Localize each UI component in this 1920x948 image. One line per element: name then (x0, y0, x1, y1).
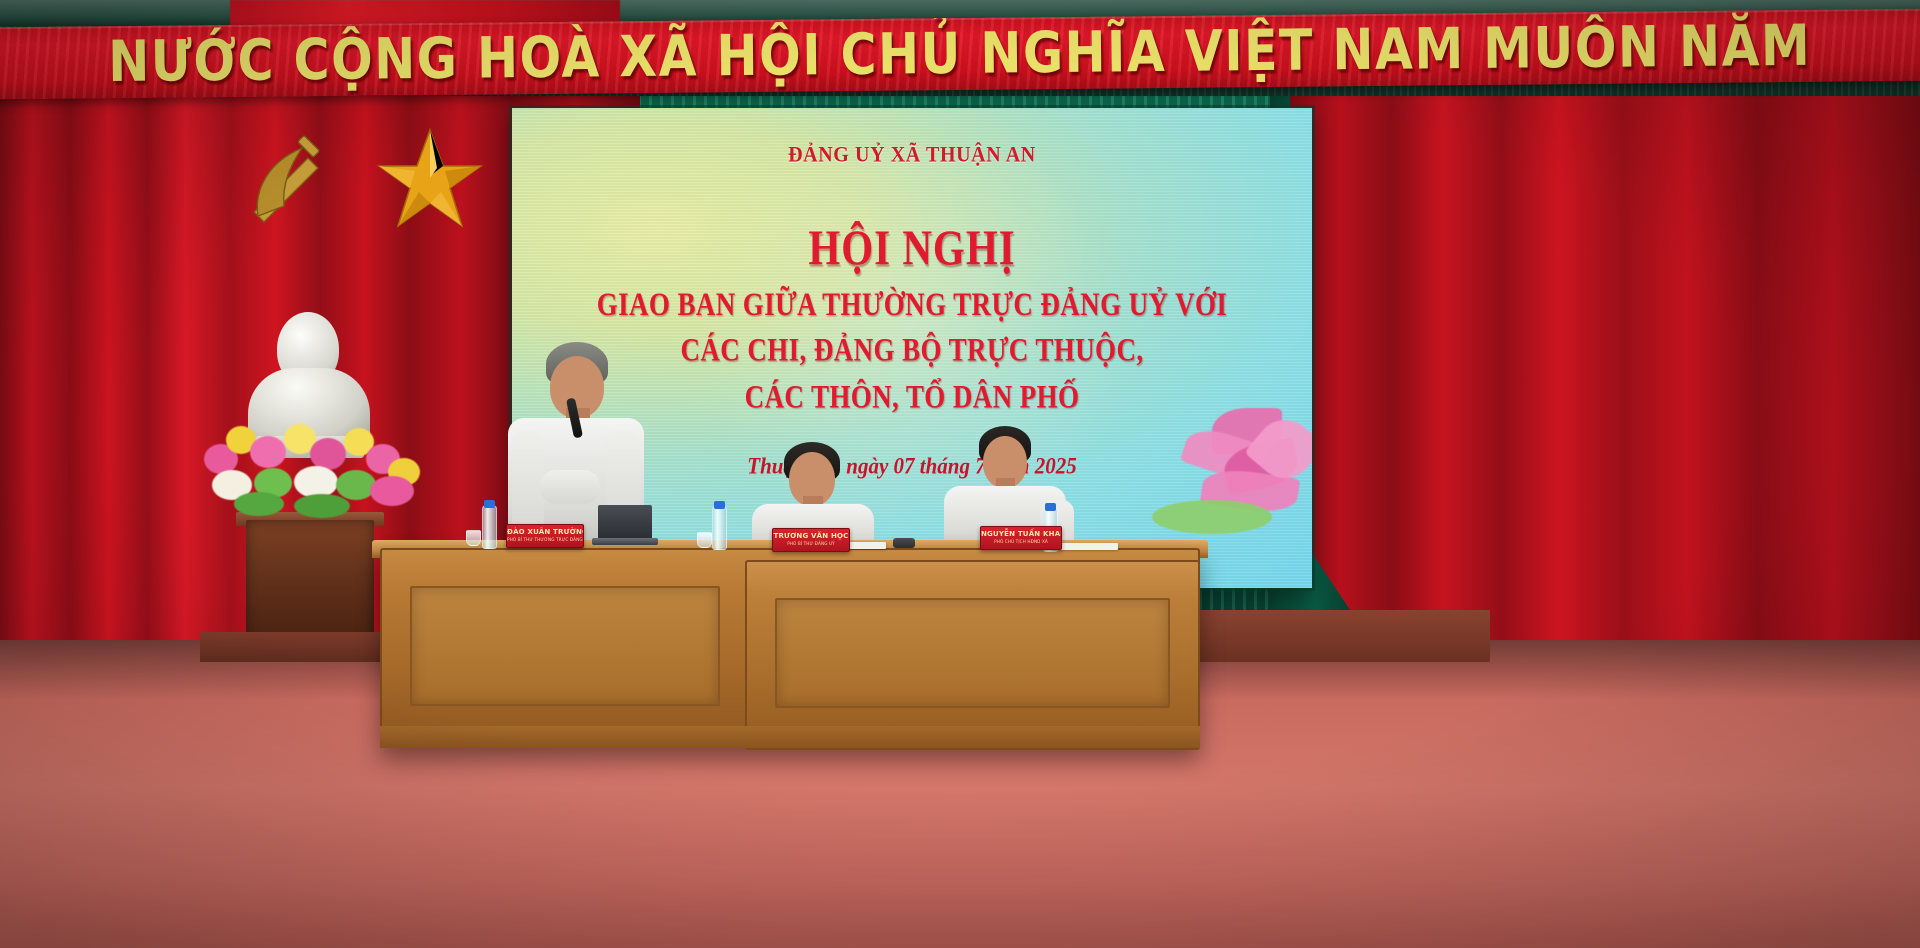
nameplate-2-name: TRƯƠNG VĂN HỌC (773, 532, 849, 541)
water-bottle (712, 506, 727, 550)
red-curtain-right (1290, 88, 1920, 688)
water-bottle (482, 505, 497, 549)
drinking-cup (466, 530, 481, 546)
hammer-and-sickle-icon (238, 128, 338, 228)
bottle-cap-icon (1045, 503, 1056, 511)
slide-subtitle-line-3: CÁC THÔN, TỔ DÂN PHỐ (512, 373, 1312, 419)
wooden-pedestal (246, 520, 374, 650)
nameplate-3-name: NGUYỄN TUẤN KHANH (981, 530, 1061, 539)
slide-subtitle-line-1: GIAO BAN GIỮA THƯỜNG TRỰC ĐẢNG UỶ VỚI (512, 282, 1312, 328)
nameplate-1: ĐÀO XUÂN TRƯỜNG PHÓ BÍ THƯ THƯỜNG TRỰC Đ… (506, 524, 584, 548)
laptop-base (592, 538, 658, 545)
bottle-cap-icon (714, 501, 725, 509)
nameplate-1-name: ĐÀO XUÂN TRƯỜNG (507, 528, 583, 537)
flower-arrangement (198, 418, 426, 522)
table-panel-left (410, 586, 720, 706)
nameplate-2: TRƯƠNG VĂN HỌC PHÓ BÍ THƯ ĐẢNG UỶ (772, 528, 850, 552)
slogan-banner-text: NƯỚC CỘNG HOÀ XÃ HỘI CHỦ NGHĨA VIỆT NAM … (108, 13, 1811, 95)
nameplate-3-role: PHÓ CHỦ TỊCH HĐND XÃ (981, 539, 1061, 545)
laptop-screen (598, 505, 652, 539)
five-pointed-star-icon (375, 126, 485, 231)
photograph-scene: ĐẢNG UỶ XÃ THUẬN AN HỘI NGHỊ GIAO BAN GI… (0, 0, 1920, 948)
nameplate-2-role: PHÓ BÍ THƯ ĐẢNG UỶ (773, 541, 849, 547)
nameplate-3: NGUYỄN TUẤN KHANH PHÓ CHỦ TỊCH HĐND XÃ (980, 526, 1062, 550)
desk-device (893, 538, 915, 548)
nameplate-1-role: PHÓ BÍ THƯ THƯỜNG TRỰC ĐẢNG UỶ (507, 537, 583, 543)
document-paper (1060, 543, 1118, 550)
slide-heading: HỘI NGHỊ (512, 218, 1312, 277)
speaker-forearm (540, 470, 600, 504)
lotus-leaf-icon (1152, 500, 1272, 534)
drinking-cup (697, 532, 712, 548)
slide-organization: ĐẢNG UỶ XÃ THUẬN AN (512, 143, 1312, 169)
bottle-cap-icon (484, 500, 495, 508)
slide-subtitle-line-2: CÁC CHI, ĐẢNG BỘ TRỰC THUỘC, (512, 327, 1312, 373)
table-panel-right (775, 598, 1170, 708)
stage-step-right (1190, 610, 1490, 662)
table-skirt (380, 726, 1200, 748)
